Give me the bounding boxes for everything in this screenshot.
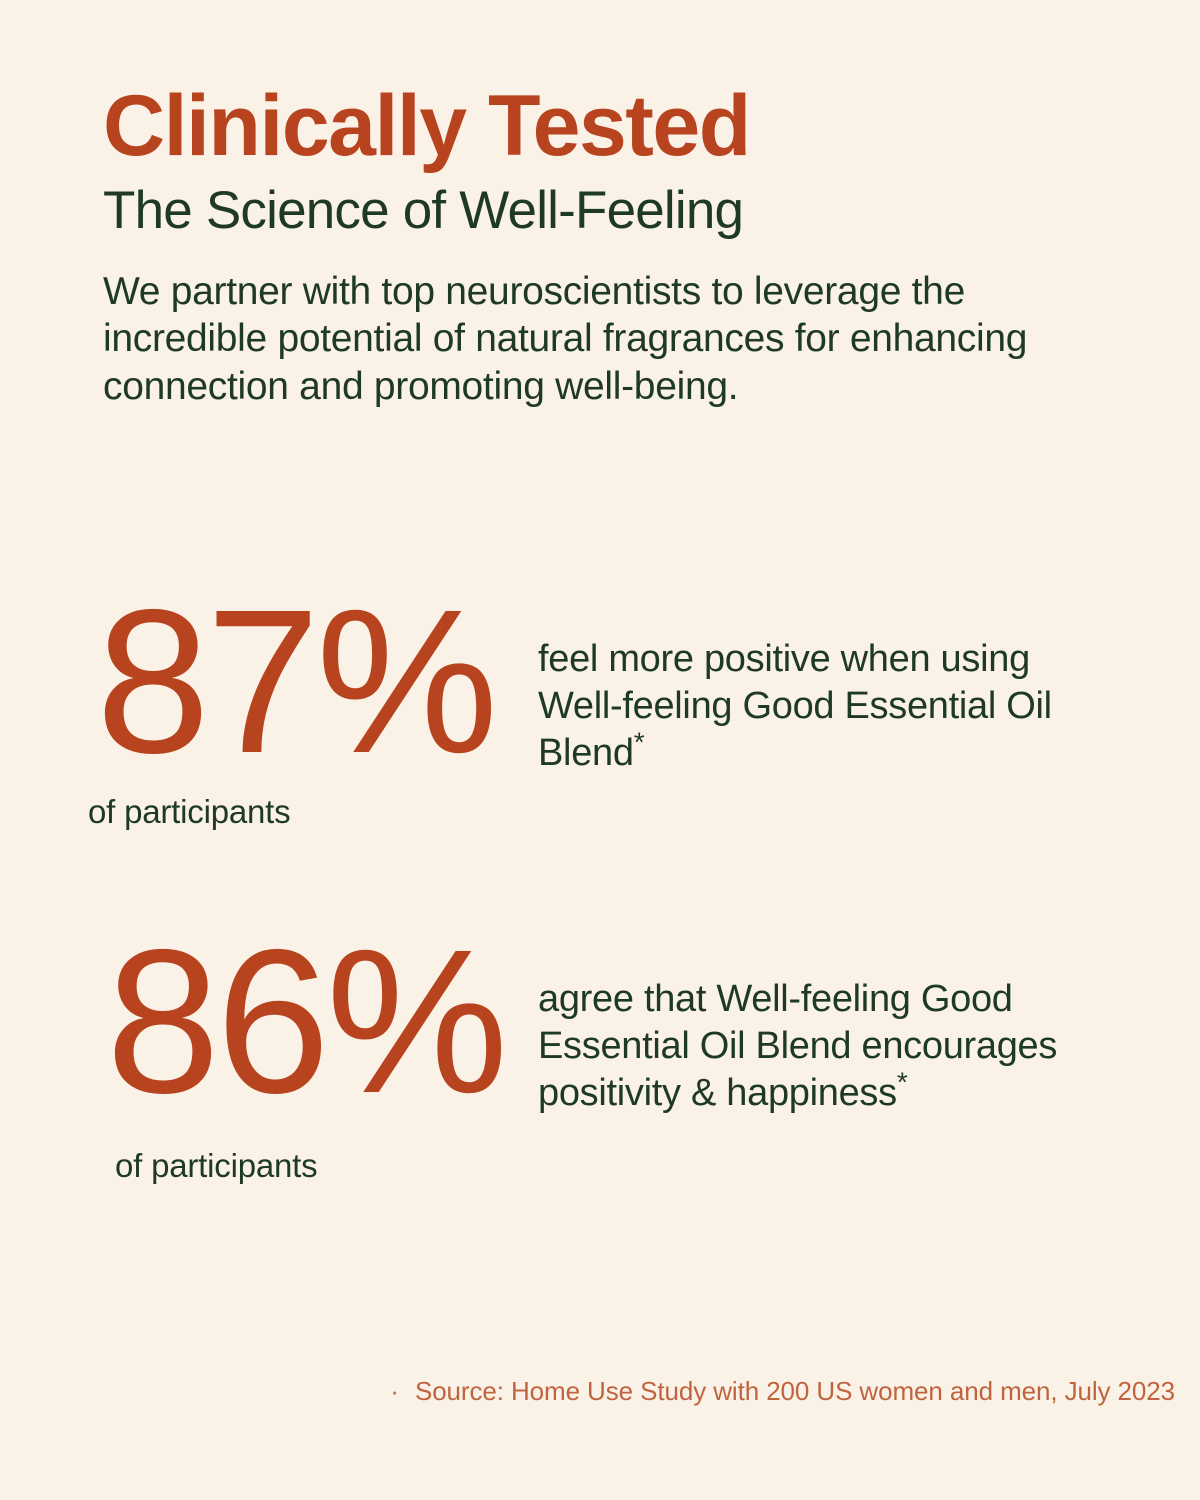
stat-description-2: agree that Well-feeling Good Essential O… — [538, 976, 1098, 1117]
source-text: Source: Home Use Study with 200 US women… — [415, 1376, 1175, 1407]
stat-value-1: 87% — [96, 600, 494, 764]
page-subtitle: The Science of Well-Feeling — [103, 182, 1103, 239]
stat-footnote-marker-1: * — [634, 727, 645, 758]
stat-description-text-1: feel more positive when using Well-feeli… — [538, 638, 1052, 774]
bullet-icon: · — [390, 1378, 399, 1404]
stat-caption-1: of participants — [88, 794, 494, 830]
stat-footnote-marker-2: * — [897, 1067, 908, 1098]
stat-description-text-2: agree that Well-feeling Good Essential O… — [538, 978, 1057, 1114]
source-footnote: · Source: Home Use Study with 200 US wom… — [0, 1376, 1200, 1407]
stat-description-1: feel more positive when using Well-feeli… — [538, 636, 1098, 777]
infographic-page: Clinically Tested The Science of Well-Fe… — [0, 0, 1200, 1500]
stat-figure-2: 86% of participants — [106, 940, 504, 1184]
stat-caption-2: of participants — [115, 1148, 504, 1184]
stat-figure-1: 87% of participants — [96, 600, 494, 830]
page-title: Clinically Tested — [103, 84, 1103, 168]
intro-paragraph: We partner with top neuroscientists to l… — [103, 268, 1103, 411]
header-block: Clinically Tested The Science of Well-Fe… — [103, 84, 1103, 410]
stat-value-2: 86% — [106, 940, 504, 1104]
